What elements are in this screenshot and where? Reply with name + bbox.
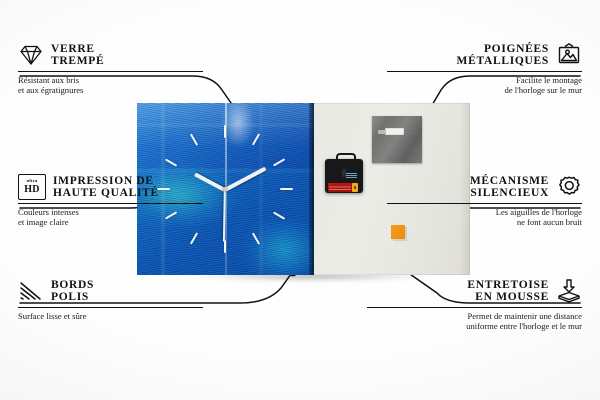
tick-6 <box>224 240 226 253</box>
feature-desc-line2: uniforme entre l'horloge et le mur <box>367 321 582 331</box>
clock-center-pin <box>223 187 227 191</box>
title-divider <box>387 203 582 204</box>
tick-3 <box>280 188 293 190</box>
feature-header: MÉCANISME SILENCIEUX <box>387 174 582 200</box>
hanger-slot <box>385 128 404 135</box>
feature-header: ENTRETOISE EN MOUSSE <box>367 278 582 304</box>
feature-entretoise-en-mousse[interactable]: ENTRETOISE EN MOUSSE Permet de maintenir… <box>367 278 582 332</box>
feature-desc-line1: Permet de maintenir une distance <box>367 311 582 321</box>
feature-header: VERRE TREMPÉ <box>18 42 203 68</box>
feature-desc-line1: Facilite le montage <box>387 75 582 85</box>
feature-poignees-metalliques[interactable]: POIGNÉES MÉTALLIQUES Facilite le montage… <box>387 42 582 96</box>
title-divider <box>18 307 203 308</box>
metal-hanger-plate <box>372 116 422 163</box>
mechanism-body <box>325 159 363 193</box>
feature-title: MÉCANISME SILENCIEUX <box>470 175 549 200</box>
feature-desc-line2: et aux égratignures <box>18 85 203 95</box>
feature-desc-line1: Les aiguilles de l'horloge <box>387 207 582 217</box>
feature-desc-line2: de l'horloge sur le mur <box>387 85 582 95</box>
feature-desc-line1: Surface lisse et sûre <box>18 311 203 321</box>
foam-spacer-arrow-icon <box>556 278 582 304</box>
feature-title: VERRE TREMPÉ <box>51 43 104 68</box>
polished-edge-icon <box>18 278 44 304</box>
hanger-slot-secondary <box>378 130 386 134</box>
feature-title: IMPRESSION DE HAUTE QUALITÉ <box>53 175 159 200</box>
feature-title: ENTRETOISE EN MOUSSE <box>467 279 549 304</box>
mechanism-shaft <box>342 169 346 177</box>
title-divider <box>18 71 203 72</box>
feature-desc-line1: Couleurs intenses <box>18 207 203 217</box>
ultra-hd-badge-icon: ultra HD <box>18 174 46 200</box>
feature-impression-haute-qualite[interactable]: ultra HD IMPRESSION DE HAUTE QUALITÉ Cou… <box>18 174 203 228</box>
quartz-clock-mechanism <box>325 153 363 193</box>
picture-frame-hanger-icon <box>556 42 582 68</box>
feature-bords-polis[interactable]: BORDS POLIS Surface lisse et sûre <box>18 278 203 321</box>
glass-glare <box>215 103 261 158</box>
battery <box>328 183 357 192</box>
hanger-texture <box>372 116 422 163</box>
infographic-canvas: VERRE TREMPÉ Résistant aux bris et aux é… <box>0 0 600 400</box>
battery-positive-terminal <box>352 183 358 192</box>
feature-desc-line2: et image claire <box>18 217 203 227</box>
mechanism-label <box>346 173 357 178</box>
glass-reflection-v2 <box>259 103 263 275</box>
feature-header: POIGNÉES MÉTALLIQUES <box>387 42 582 68</box>
clock-right-edge <box>309 103 314 275</box>
gear-icon <box>556 174 582 200</box>
battery-label-lines <box>329 185 351 190</box>
diamond-icon <box>18 42 44 68</box>
feature-mecanisme-silencieux[interactable]: MÉCANISME SILENCIEUX Les aiguilles de l'… <box>387 174 582 228</box>
feature-header: ultra HD IMPRESSION DE HAUTE QUALITÉ <box>18 174 203 200</box>
feature-title: POIGNÉES MÉTALLIQUES <box>457 43 549 68</box>
title-divider <box>387 71 582 72</box>
feature-title: BORDS POLIS <box>51 279 94 304</box>
feature-desc-line1: Résistant aux bris <box>18 75 203 85</box>
title-divider <box>367 307 582 308</box>
feature-verre-trempe[interactable]: VERRE TREMPÉ Résistant aux bris et aux é… <box>18 42 203 96</box>
feature-desc-line2: ne font aucun bruit <box>387 217 582 227</box>
title-divider <box>18 203 203 204</box>
feature-header: BORDS POLIS <box>18 278 203 304</box>
